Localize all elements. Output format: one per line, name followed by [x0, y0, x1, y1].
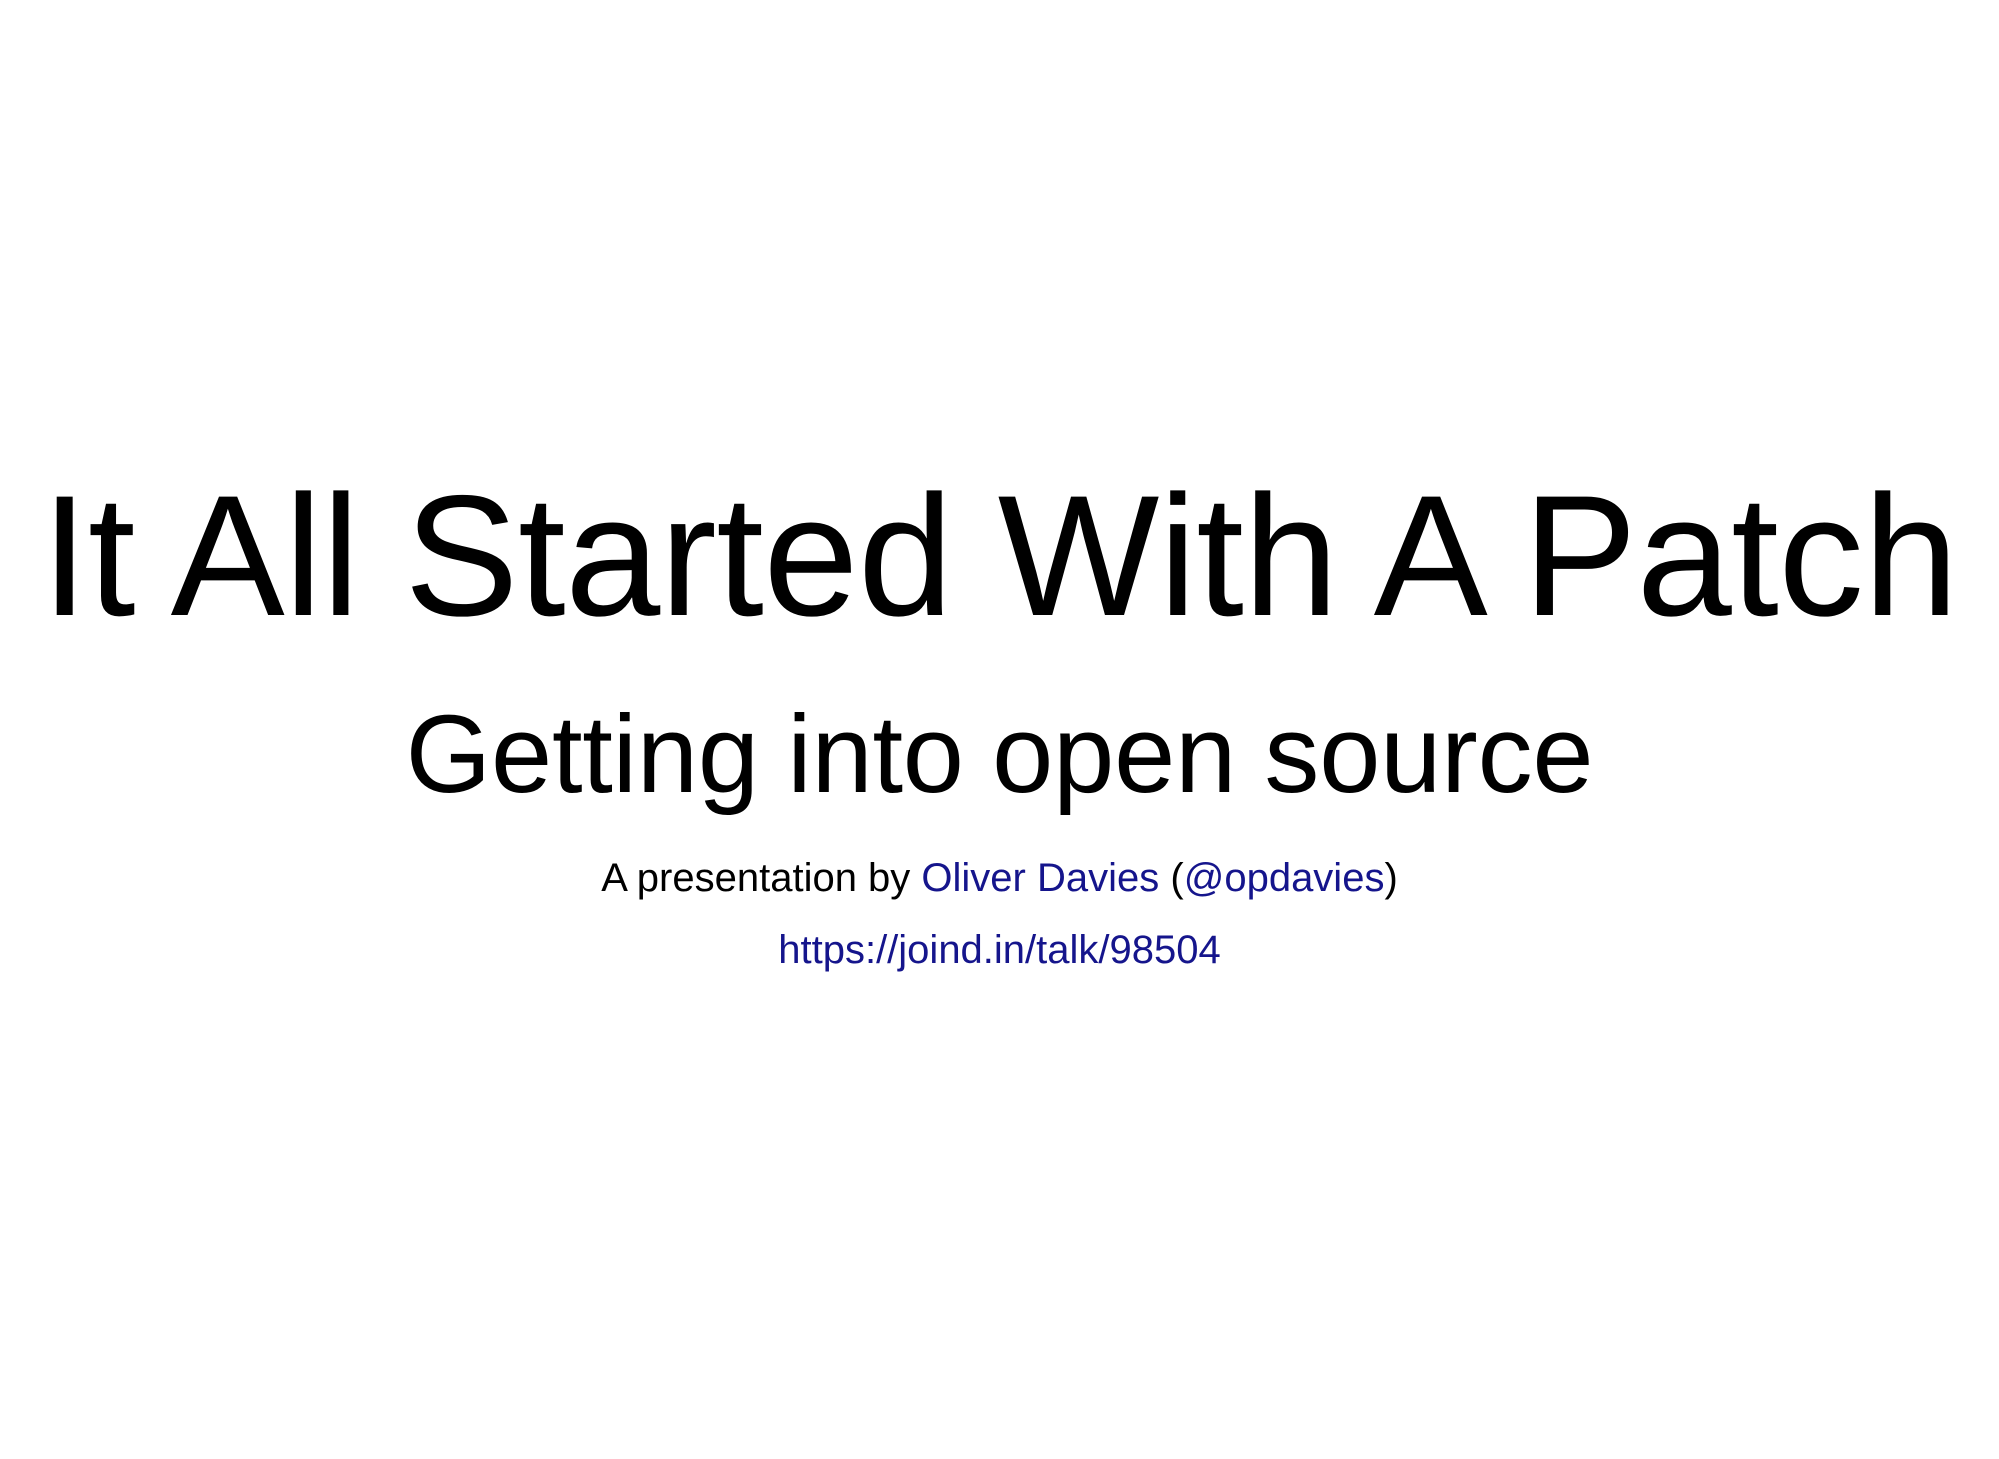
close-paren: ) [1384, 856, 1397, 900]
author-link[interactable]: Oliver Davies [921, 856, 1159, 900]
presentation-byline: A presentation by Oliver Davies (@opdavi… [0, 858, 1999, 898]
talk-url-link[interactable]: https://joind.in/talk/98504 [778, 928, 1221, 972]
open-paren: ( [1170, 856, 1183, 900]
byline-prefix-text: A presentation by [601, 856, 921, 900]
byline-space [1159, 856, 1170, 900]
presentation-slide: It All Started With A Patch Getting into… [0, 0, 1999, 1459]
author-handle-link[interactable]: @opdavies [1184, 856, 1385, 900]
slide-subtitle: Getting into open source [0, 700, 1999, 810]
talk-url-line: https://joind.in/talk/98504 [0, 930, 1999, 970]
page-title: It All Started With A Patch [5, 470, 1994, 642]
